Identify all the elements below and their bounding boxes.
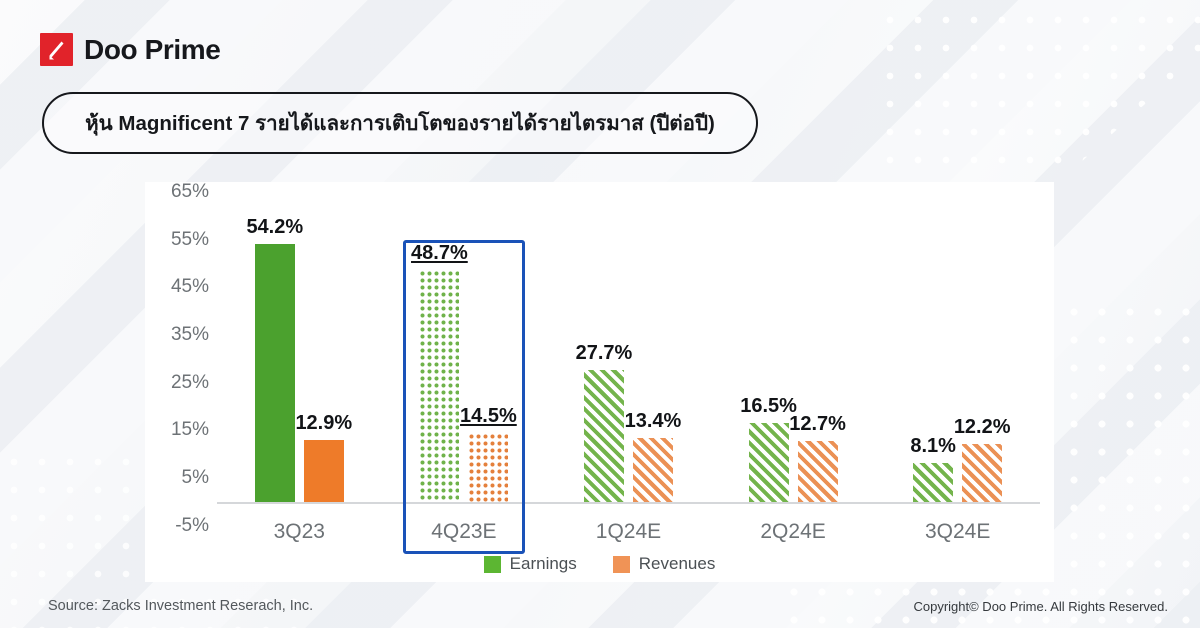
- y-axis-tick: 5%: [182, 467, 209, 489]
- legend-item-revenues[interactable]: Revenues: [613, 554, 716, 574]
- bar-value-label: 54.2%: [246, 216, 303, 239]
- y-axis-tick: 45%: [171, 276, 209, 298]
- bar-value-label: 12.7%: [789, 413, 846, 436]
- legend-label: Revenues: [639, 554, 716, 574]
- legend-swatch: [613, 556, 630, 573]
- y-axis: 65%55%45%35%25%15%5%-5%: [145, 182, 217, 582]
- y-axis-tick: -5%: [175, 515, 209, 537]
- bar-pair: 48.7%14.5%: [382, 270, 547, 502]
- bar-value-label: 48.7%: [411, 242, 468, 265]
- bar-group: 8.1%12.2%3Q24E: [875, 182, 1040, 582]
- chart-container: 65%55%45%35%25%15%5%-5% 54.2%12.9%3Q2348…: [145, 182, 1054, 582]
- bar-column-earnings[interactable]: 8.1%: [913, 463, 953, 502]
- bar-pair: 27.7%13.4%: [546, 370, 711, 502]
- bar-group: 48.7%14.5%4Q23E: [382, 182, 547, 582]
- brand-logo: Doo Prime: [40, 33, 220, 66]
- chart-legend: EarningsRevenues: [145, 554, 1054, 574]
- bar-column-revenues[interactable]: 13.4%: [633, 438, 673, 502]
- bar-value-label: 8.1%: [910, 435, 956, 458]
- page-title: หุ้น Magnificent 7 รายได้และการเติบโตของ…: [42, 92, 758, 154]
- page-title-text: หุ้น Magnificent 7 รายได้และการเติบโตของ…: [85, 107, 715, 140]
- bar-earnings[interactable]: 8.1%: [913, 463, 953, 502]
- copyright-note: Copyright© Doo Prime. All Rights Reserve…: [913, 599, 1168, 614]
- bar-value-label: 12.9%: [295, 412, 352, 435]
- bar-value-label: 14.5%: [460, 405, 517, 428]
- brand-name: Doo Prime: [84, 34, 220, 66]
- bar-revenues[interactable]: 12.9%: [304, 440, 344, 502]
- bar-column-earnings[interactable]: 48.7%: [419, 270, 459, 502]
- y-axis-tick: 15%: [171, 419, 209, 441]
- bar-revenues[interactable]: 12.2%: [962, 444, 1002, 502]
- bar-earnings[interactable]: 54.2%: [255, 244, 295, 502]
- bar-group: 27.7%13.4%1Q24E: [546, 182, 711, 582]
- bar-earnings[interactable]: 27.7%: [584, 370, 624, 502]
- bar-pair: 16.5%12.7%: [711, 423, 876, 502]
- bar-column-revenues[interactable]: 12.2%: [962, 444, 1002, 502]
- bar-column-revenues[interactable]: 12.7%: [798, 441, 838, 502]
- bar-column-earnings[interactable]: 27.7%: [584, 370, 624, 502]
- y-axis-tick: 35%: [171, 324, 209, 346]
- bar-column-earnings[interactable]: 16.5%: [749, 423, 789, 502]
- y-axis-tick: 25%: [171, 372, 209, 394]
- legend-label: Earnings: [510, 554, 577, 574]
- y-axis-tick: 55%: [171, 229, 209, 251]
- bar-group: 54.2%12.9%3Q23: [217, 182, 382, 582]
- bar-column-earnings[interactable]: 54.2%: [255, 244, 295, 502]
- bar-value-label: 13.4%: [625, 410, 682, 433]
- bar-value-label: 27.7%: [576, 342, 633, 365]
- x-axis-label-3q24e: 3Q24E: [875, 520, 1040, 544]
- bar-pair: 8.1%12.2%: [875, 444, 1040, 502]
- bar-groups: 54.2%12.9%3Q2348.7%14.5%4Q23E27.7%13.4%1…: [217, 182, 1040, 582]
- bar-column-revenues[interactable]: 14.5%: [468, 433, 508, 502]
- x-axis-label-4q23e: 4Q23E: [382, 520, 547, 544]
- bar-revenues[interactable]: 13.4%: [633, 438, 673, 502]
- doo-prime-mark-icon: [40, 33, 73, 66]
- bar-revenues[interactable]: 14.5%: [468, 433, 508, 502]
- bar-group: 16.5%12.7%2Q24E: [711, 182, 876, 582]
- x-axis-label-1q24e: 1Q24E: [546, 520, 711, 544]
- bar-pair: 54.2%12.9%: [217, 244, 382, 502]
- x-axis-label-2q24e: 2Q24E: [711, 520, 876, 544]
- bar-earnings[interactable]: 48.7%: [419, 270, 459, 502]
- legend-item-earnings[interactable]: Earnings: [484, 554, 577, 574]
- bar-earnings[interactable]: 16.5%: [749, 423, 789, 502]
- bar-revenues[interactable]: 12.7%: [798, 441, 838, 502]
- plot-area: 54.2%12.9%3Q2348.7%14.5%4Q23E27.7%13.4%1…: [217, 182, 1040, 582]
- source-note: Source: Zacks Investment Reserach, Inc.: [48, 598, 313, 614]
- legend-swatch: [484, 556, 501, 573]
- bar-column-revenues[interactable]: 12.9%: [304, 440, 344, 502]
- bar-value-label: 12.2%: [954, 416, 1011, 439]
- y-axis-tick: 65%: [171, 181, 209, 203]
- x-axis-label-3q23: 3Q23: [217, 520, 382, 544]
